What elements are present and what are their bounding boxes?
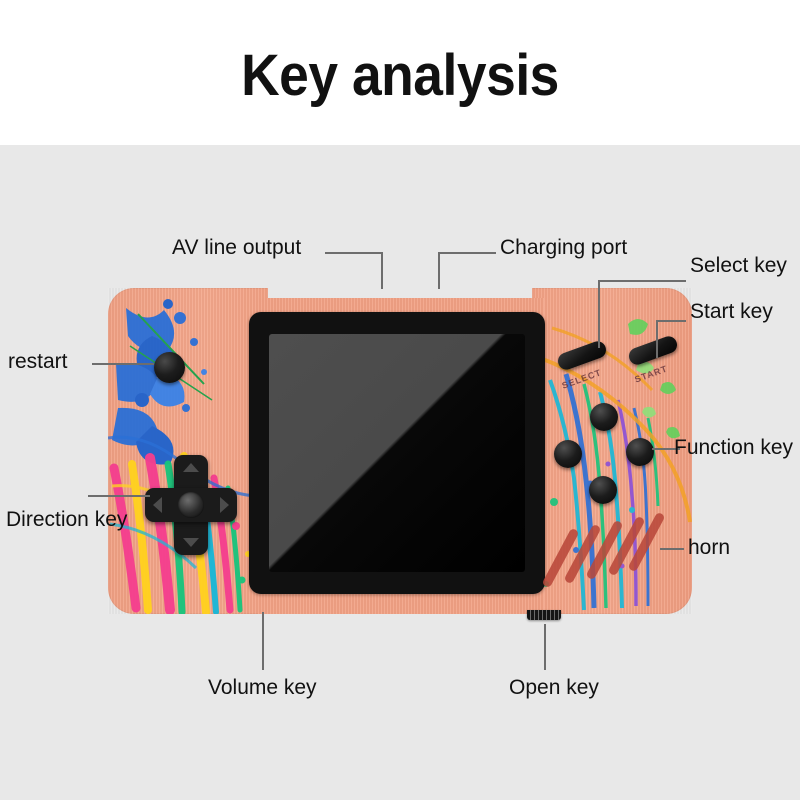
function-key-button-top[interactable] [590, 403, 618, 431]
leader-charging-port-h [438, 252, 496, 254]
arrow-up-icon [183, 463, 199, 472]
page-title: Key analysis [32, 42, 768, 109]
leader-open-key [544, 624, 546, 670]
leader-volume-key [262, 612, 264, 670]
callout-label-select-key: Select key [690, 254, 787, 278]
arrow-down-icon [183, 538, 199, 547]
leader-start-key-v [656, 320, 658, 358]
function-key-button-right[interactable] [626, 438, 654, 466]
leader-start-key-h [656, 320, 686, 322]
restart-button[interactable] [154, 352, 185, 383]
callout-label-restart: restart [8, 350, 68, 374]
arrow-right-icon [220, 497, 229, 513]
leader-restart [92, 363, 154, 365]
start-key-button[interactable] [627, 334, 680, 367]
right-control-cluster: SELECT START [532, 288, 692, 614]
callout-label-open-key: Open key [509, 676, 599, 700]
leader-horn [660, 548, 684, 550]
brushed-texture [108, 288, 268, 614]
open-key-switch[interactable] [527, 610, 561, 620]
header-band: Key analysis [0, 0, 800, 145]
function-key-button-bottom[interactable] [589, 476, 617, 504]
callout-label-charging-port: Charging port [500, 236, 627, 260]
handheld-console: SELECT START [108, 288, 692, 614]
leader-av-line-output-h [325, 252, 383, 254]
leader-select-key-h [598, 280, 686, 282]
leader-select-key-v [598, 280, 600, 348]
callout-label-direction-key: Direction key [6, 508, 127, 532]
callout-label-av-line-output: AV line output [172, 236, 301, 260]
select-key-button[interactable] [556, 339, 609, 372]
callout-label-horn: horn [688, 536, 730, 560]
arrow-left-icon [153, 497, 162, 513]
start-key-print: START [633, 363, 669, 384]
leader-av-line-output-v [381, 252, 383, 289]
callout-label-start-key: Start key [690, 300, 773, 324]
key-analysis-page: Key analysis [0, 0, 800, 800]
callout-label-volume-key: Volume key [208, 676, 317, 700]
direction-key-dpad[interactable] [145, 455, 237, 555]
select-key-print: SELECT [561, 367, 603, 391]
function-key-button-left[interactable] [554, 440, 582, 468]
console-left-wing [108, 288, 268, 614]
leader-charging-port-v [438, 252, 440, 289]
leader-direction-key [88, 495, 150, 497]
screen-bezel [249, 312, 545, 594]
callout-label-function-key: Function key [674, 436, 793, 460]
dpad-center-hub[interactable] [178, 492, 204, 518]
screen-display [269, 334, 525, 572]
horn-speaker-grille [554, 520, 674, 594]
